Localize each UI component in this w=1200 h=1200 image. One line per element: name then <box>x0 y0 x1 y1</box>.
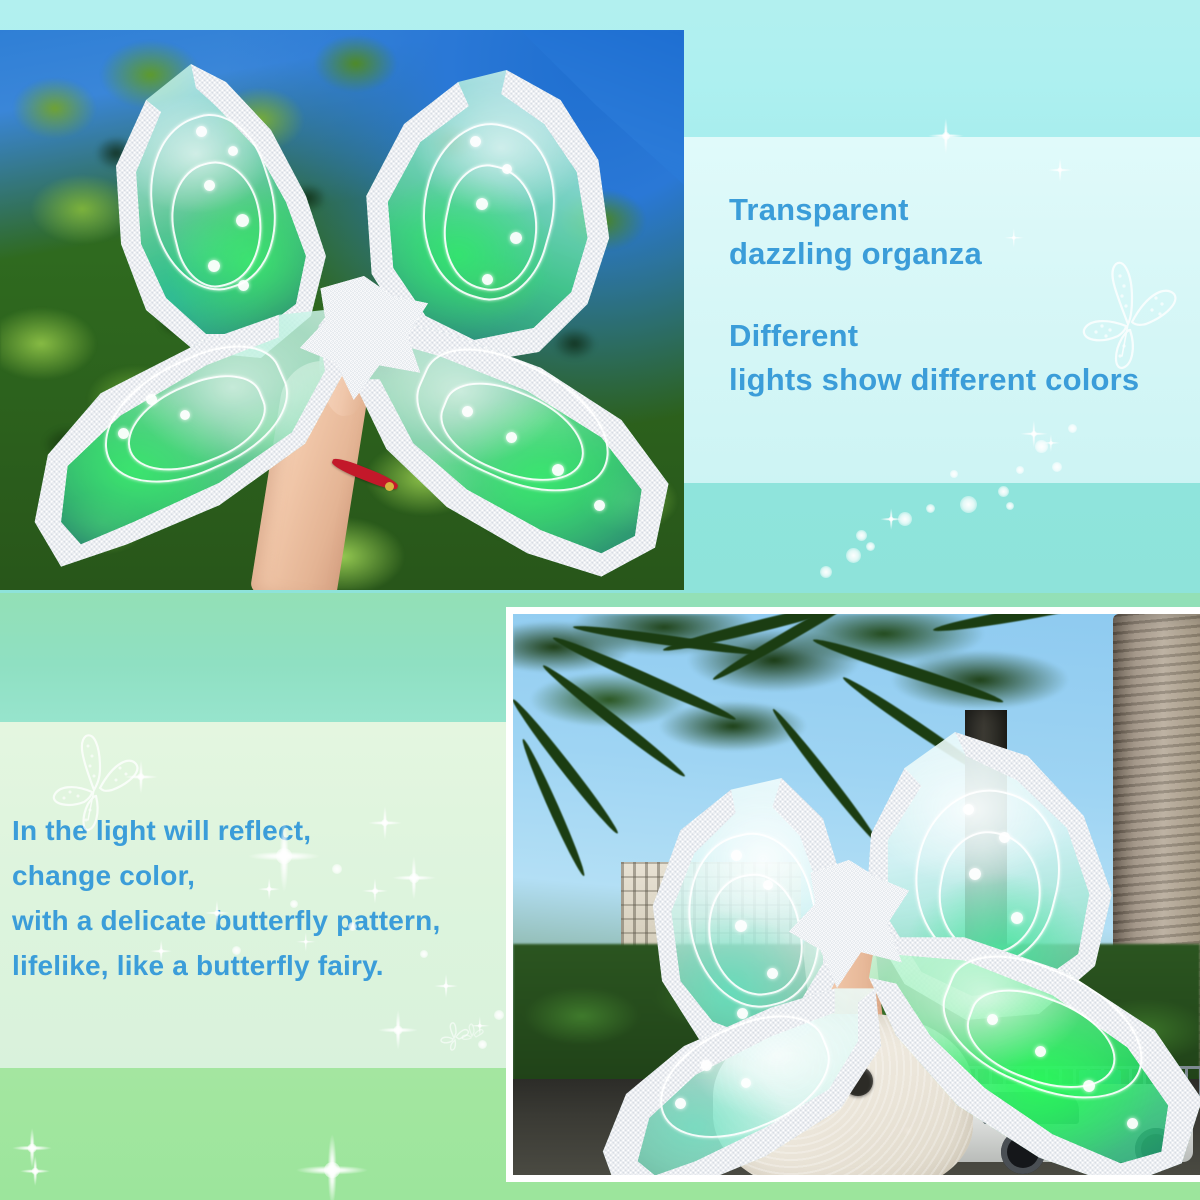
copy-line: Transparent <box>729 188 1189 232</box>
copy-line: lifelike, like a butterfly fairy. <box>12 943 528 988</box>
wing-dot <box>228 146 238 156</box>
bokeh-dot-icon <box>1006 502 1014 510</box>
bokeh-dot-icon <box>1035 440 1048 453</box>
bokeh-dot-icon <box>820 566 832 578</box>
wing-dot <box>208 260 220 272</box>
feature-copy-bottom-left: In the light will reflect, change color,… <box>12 808 528 988</box>
bokeh-dot-icon <box>332 864 342 874</box>
wing-dot <box>987 1014 998 1025</box>
bokeh-dot-icon <box>348 922 357 931</box>
wing-dot <box>735 920 747 932</box>
wing-dot <box>502 164 512 174</box>
product-feature-collage: Transparent dazzling organza Different l… <box>0 0 1200 1200</box>
wing-dot <box>482 274 493 285</box>
bokeh-dot-icon <box>950 470 958 478</box>
wing-dot <box>731 850 742 861</box>
wing-dot <box>741 1078 751 1088</box>
bokeh-dot-icon <box>478 1040 487 1049</box>
feature-copy-top-right: Transparent dazzling organza Different l… <box>729 188 1189 402</box>
bokeh-dot-icon <box>998 486 1009 497</box>
copy-line: Different <box>729 314 1189 358</box>
wing-dot <box>462 406 473 417</box>
bokeh-dot-icon <box>866 542 875 551</box>
wing-dot <box>1035 1046 1046 1057</box>
wing-dot <box>969 868 981 880</box>
bokeh-dot-icon <box>926 504 935 513</box>
bokeh-dot-icon <box>960 496 977 513</box>
wing-dot <box>180 410 190 420</box>
copy-line: with a delicate butterfly pattern, <box>12 898 528 943</box>
wing-dot <box>238 280 249 291</box>
wing-dot <box>963 804 974 815</box>
bokeh-dot-icon <box>856 530 867 541</box>
copy-line: change color, <box>12 853 528 898</box>
copy-line: dazzling organza <box>729 232 1189 276</box>
wing-dot <box>510 232 522 244</box>
copy-line: lights show different colors <box>729 358 1189 402</box>
wing-dot <box>470 136 481 147</box>
bokeh-dot-icon <box>1068 424 1077 433</box>
bracelet-bead <box>385 482 394 491</box>
bokeh-dot-icon <box>1016 466 1024 474</box>
bokeh-dot-icon <box>898 512 912 526</box>
wing-dot <box>763 880 773 890</box>
wing-dot <box>1127 1118 1138 1129</box>
wing-dot <box>506 432 517 443</box>
wing-dot <box>701 1060 712 1071</box>
wing-dot <box>1083 1080 1095 1092</box>
bokeh-dot-icon <box>1052 462 1062 472</box>
wing-dot <box>236 214 249 227</box>
wing-dot <box>196 126 207 137</box>
wing-dot <box>737 1008 748 1019</box>
bokeh-dot-icon <box>290 900 298 908</box>
copy-line: In the light will reflect, <box>12 808 528 853</box>
wing-dot <box>146 394 157 405</box>
wing-dot <box>1011 912 1023 924</box>
wing-dot <box>594 500 605 511</box>
wing-dot <box>118 428 129 439</box>
bokeh-dot-icon <box>232 946 241 955</box>
copy-spacer <box>729 276 1189 314</box>
product-photo-palm-street <box>513 614 1200 1175</box>
bokeh-dot-icon <box>420 950 428 958</box>
wing-dot <box>767 968 778 979</box>
wing-dot <box>476 198 488 210</box>
wing-dot <box>204 180 215 191</box>
product-photo-hedge <box>0 30 684 590</box>
wing-dot <box>999 832 1010 843</box>
bokeh-dot-icon <box>846 548 861 563</box>
wing-dot <box>552 464 564 476</box>
wing-dot <box>675 1098 686 1109</box>
bokeh-dot-icon <box>494 1010 504 1020</box>
